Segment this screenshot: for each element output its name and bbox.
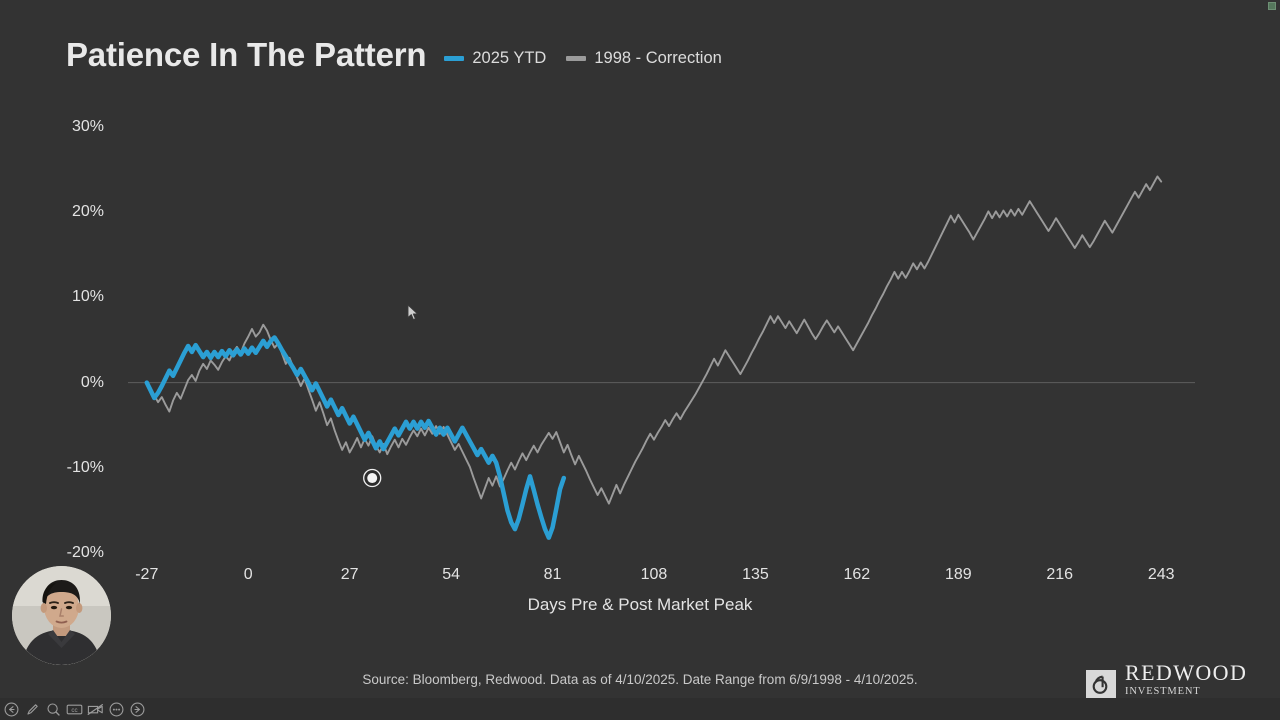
redwood-glyph-icon	[1090, 674, 1112, 696]
back-arrow-icon[interactable]	[3, 701, 20, 718]
magnifier-icon[interactable]	[45, 701, 62, 718]
x-axis-tick-label: 216	[1046, 566, 1073, 584]
closed-caption-icon[interactable]: cc	[66, 701, 83, 718]
presenter-webcam-bubble[interactable]	[12, 566, 111, 665]
x-axis-tick-label: 135	[742, 566, 769, 584]
x-axis-tick-label: 54	[442, 566, 460, 584]
presenter-avatar	[12, 566, 111, 665]
camera-off-icon[interactable]	[87, 701, 104, 718]
recording-indicator	[1268, 2, 1276, 10]
reactions-icon[interactable]	[108, 701, 125, 718]
forward-arrow-icon[interactable]	[129, 701, 146, 718]
x-axis-tick-label: 108	[641, 566, 668, 584]
cursor-glyph-icon	[407, 304, 419, 322]
x-axis-tick-label: 0	[244, 566, 253, 584]
x-axis-title: Days Pre & Post Market Peak	[0, 595, 1280, 615]
x-axis-tick-label: -27	[135, 566, 158, 584]
x-axis-tick-label: 162	[844, 566, 871, 584]
redwood-logo-mark-icon	[1086, 670, 1116, 700]
x-axis-tick-label: 81	[544, 566, 562, 584]
x-axis-tick-label: 189	[945, 566, 972, 584]
logo-company-name: REDWOOD	[1125, 662, 1280, 684]
x-axis-tick-label: 27	[341, 566, 359, 584]
presentation-slide: Patience In The Pattern 2025 YTD 1998 - …	[0, 0, 1280, 720]
svg-text:cc: cc	[71, 707, 77, 714]
pen-icon[interactable]	[24, 701, 41, 718]
x-axis-tick-label: 243	[1148, 566, 1175, 584]
mouse-pointer-icon	[407, 304, 419, 322]
presentation-toolbar[interactable]: cc	[0, 698, 1280, 720]
